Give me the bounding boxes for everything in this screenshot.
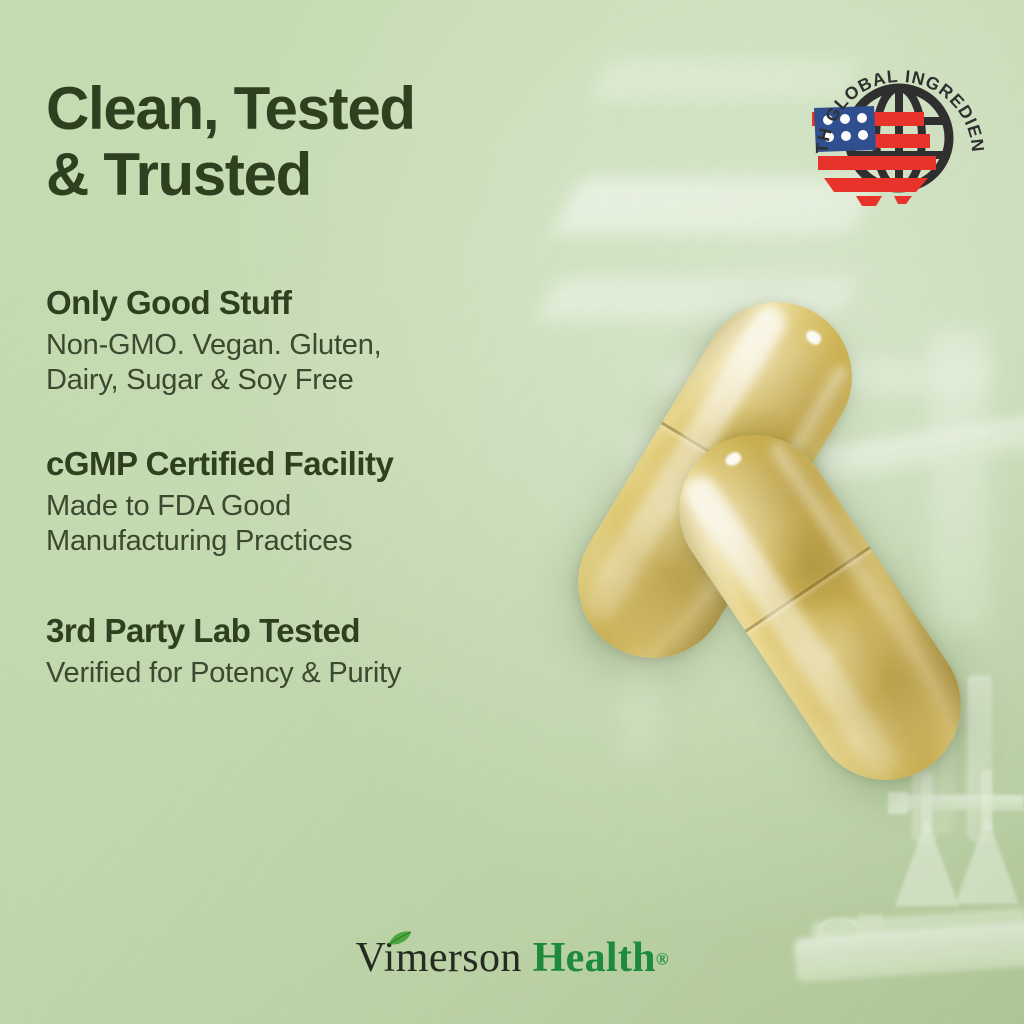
registered-trademark-symbol: ® — [656, 950, 669, 969]
feature-body-line: Non-GMO. Vegan. Gluten, — [46, 328, 586, 363]
headline-line-1: Clean, Tested — [46, 76, 606, 142]
feature-body: Verified for Potency & Purity — [46, 656, 586, 691]
headline-line-2: & Trusted — [46, 142, 606, 208]
feature-body-line: Made to FDA Good — [46, 489, 586, 524]
brand-name-second: Health — [533, 935, 656, 981]
feature-item-3rd-party-lab-tested: 3rd Party Lab Tested Verified for Potenc… — [46, 611, 586, 691]
leaf-icon — [388, 931, 412, 946]
promo-infographic: WITH GLOBAL INGREDIENTS Clean, Tested & … — [0, 0, 1024, 1024]
badge-svg: WITH GLOBAL INGREDIENTS — [806, 42, 992, 224]
brand-name-first: Vimerson — [355, 935, 521, 981]
feature-list: Only Good Stuff Non-GMO. Vegan. Gluten, … — [46, 283, 586, 691]
brand-logo-inner: Vimerson Health® — [355, 934, 668, 982]
feature-title: cGMP Certified Facility — [46, 444, 586, 484]
feature-body-line: Dairy, Sugar & Soy Free — [46, 363, 586, 398]
feature-item-cgmp-certified-facility: cGMP Certified Facility Made to FDA Good… — [46, 444, 586, 559]
brand-logo: Vimerson Health® — [0, 934, 1024, 982]
feature-body: Made to FDA Good Manufacturing Practices — [46, 489, 586, 559]
feature-body-line: Manufacturing Practices — [46, 524, 586, 559]
feature-title: 3rd Party Lab Tested — [46, 611, 586, 651]
page-title: Clean, Tested & Trusted — [46, 76, 606, 208]
feature-item-only-good-stuff: Only Good Stuff Non-GMO. Vegan. Gluten, … — [46, 283, 586, 398]
global-ingredients-badge: WITH GLOBAL INGREDIENTS — [806, 42, 992, 224]
feature-body-line: Verified for Potency & Purity — [46, 656, 586, 691]
feature-title: Only Good Stuff — [46, 283, 586, 323]
feature-body: Non-GMO. Vegan. Gluten, Dairy, Sugar & S… — [46, 328, 586, 398]
